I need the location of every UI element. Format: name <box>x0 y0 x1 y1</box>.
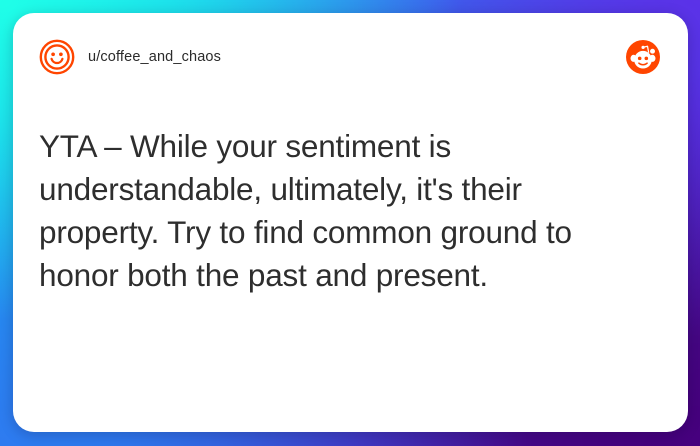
smiley-face-avatar-icon <box>39 39 75 75</box>
avatar[interactable] <box>39 39 75 75</box>
card-body: YTA – While your sentiment is understand… <box>39 125 660 406</box>
reddit-comment-card: u/coffee_and_chaos YTA – While y <box>13 13 688 432</box>
reddit-logo[interactable] <box>626 40 660 74</box>
reddit-snoo-icon <box>626 40 660 74</box>
comment-text: YTA – While your sentiment is understand… <box>39 125 639 297</box>
card-header: u/coffee_and_chaos <box>39 35 660 79</box>
gradient-background: u/coffee_and_chaos YTA – While y <box>0 0 700 446</box>
author-block[interactable]: u/coffee_and_chaos <box>39 39 221 75</box>
author-username: u/coffee_and_chaos <box>88 49 221 65</box>
